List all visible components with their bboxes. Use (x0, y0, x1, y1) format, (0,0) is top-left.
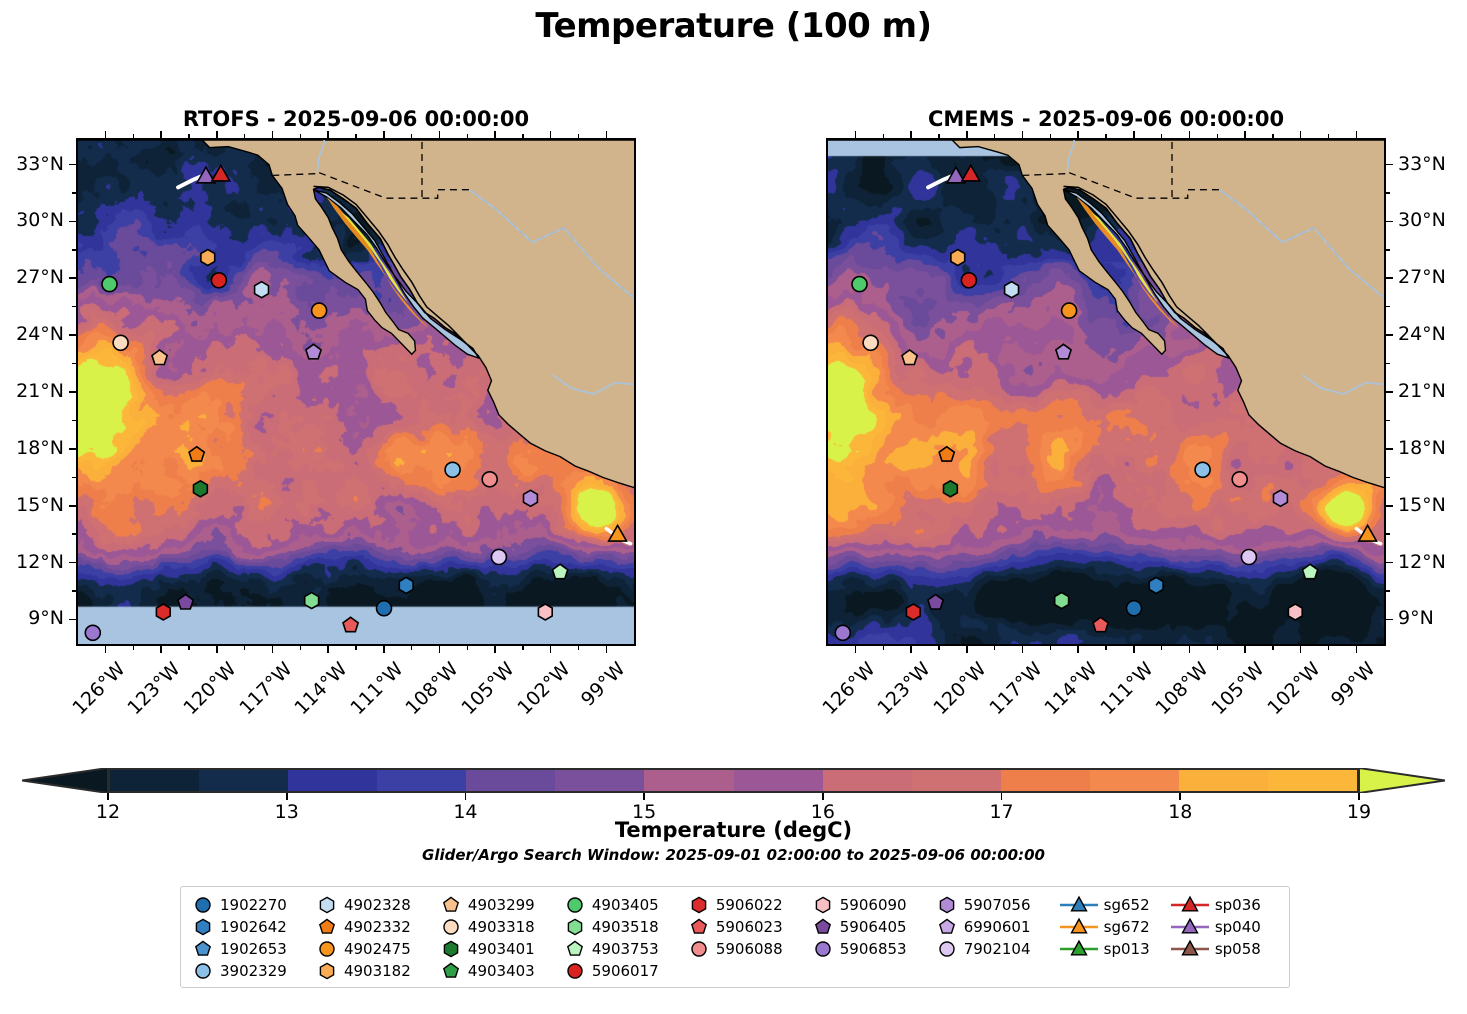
lat-tick-label: 21°N (1398, 382, 1446, 401)
legend-item-label: 5906022 (712, 896, 783, 914)
lon-tick-top-minor (578, 134, 579, 138)
lon-tick-minor (188, 646, 189, 650)
marker-4903753[interactable] (553, 564, 568, 579)
legend-item-sp058[interactable]: sp058 (1169, 938, 1280, 960)
legend: 1902270190264219026533902329490232849023… (180, 886, 1290, 988)
legend-item-label: 1902270 (216, 896, 287, 914)
lon-tick-top (966, 131, 968, 138)
lat-tick (69, 505, 76, 507)
lon-tick-top-minor (1328, 134, 1329, 138)
legend-marker-icon (562, 917, 588, 937)
legend-marker-icon (314, 961, 340, 981)
lat-tick-minor (72, 533, 76, 534)
marker-3902329[interactable] (1195, 462, 1210, 477)
lon-tick-top (1077, 131, 1079, 138)
marker-1902270[interactable] (1127, 601, 1142, 616)
lon-tick-top-minor (300, 134, 301, 138)
legend-item-label: 5906405 (836, 918, 907, 936)
legend-marker-icon (314, 917, 340, 937)
map-frame-cmems[interactable] (826, 138, 1386, 646)
lon-tick-minor (411, 646, 412, 650)
lat-tick-minor (72, 306, 76, 307)
marker-5906088[interactable] (1232, 472, 1247, 487)
map-frame-rtofs[interactable] (76, 138, 636, 646)
colorbar-tick (1358, 793, 1360, 800)
lon-tick-top (439, 131, 441, 138)
lon-tick-top-minor (244, 134, 245, 138)
lon-tick (272, 646, 274, 653)
legend-item-5906017[interactable]: 5906017 (562, 960, 686, 982)
lon-tick-top (494, 131, 496, 138)
lon-tick-minor (355, 646, 356, 650)
colorbar-segment (644, 770, 733, 791)
lon-tick (439, 646, 441, 653)
lon-tick-top (383, 131, 385, 138)
legend-item-label: 1902653 (216, 940, 287, 958)
legend-item-1902270[interactable]: 1902270 (190, 894, 314, 916)
lon-tick-top (855, 131, 857, 138)
marker-4903405[interactable] (102, 277, 117, 292)
lon-tick-minor (1272, 646, 1273, 650)
lat-tick-minor (1386, 420, 1390, 421)
lon-tick-top (160, 131, 162, 138)
legend-item-label: sp040 (1211, 918, 1261, 936)
legend-item-sp036[interactable]: sp036 (1169, 894, 1280, 916)
marker-5906088[interactable] (482, 472, 497, 487)
legend-column: 590609059064055906853 (810, 894, 934, 960)
lat-tick-label: 30°N (16, 211, 64, 230)
lat-tick (69, 619, 76, 621)
marker-5906022[interactable] (906, 604, 920, 620)
colorbar-extend-min (22, 768, 108, 793)
colorbar-segment (1179, 770, 1268, 791)
lat-tick-label: 12°N (1398, 553, 1446, 572)
marker-4903405[interactable] (852, 277, 867, 292)
lat-tick (1386, 505, 1393, 507)
lon-tick (910, 646, 912, 653)
legend-item-5906405[interactable]: 5906405 (810, 916, 934, 938)
legend-item-label: 5907056 (960, 896, 1031, 914)
lat-tick-minor (72, 590, 76, 591)
colorbar-label: Temperature (degC) (0, 818, 1467, 842)
panel-title-rtofs: RTOFS - 2025-09-06 00:00:00 (76, 107, 636, 131)
legend-marker-icon (686, 939, 712, 959)
legend-item-5906090[interactable]: 5906090 (810, 894, 934, 916)
marker-4903401[interactable] (944, 481, 958, 497)
legend-marker-icon (1058, 917, 1100, 937)
legend-item-label: 5906088 (712, 940, 783, 958)
colorbar-segment (1268, 770, 1357, 791)
lon-tick-top (105, 131, 107, 138)
marker-1902642[interactable] (1149, 577, 1163, 593)
legend-item-4903518[interactable]: 4903518 (562, 916, 686, 938)
legend-marker-icon (438, 939, 464, 959)
lon-tick-top (327, 131, 329, 138)
lon-tick-minor (578, 646, 579, 650)
lon-tick-top (1300, 131, 1302, 138)
legend-column: sp036sp040sp058 (1169, 894, 1280, 960)
lat-tick-minor (72, 192, 76, 193)
lon-tick-top-minor (355, 134, 356, 138)
lon-tick-top-minor (467, 134, 468, 138)
lat-tick (69, 334, 76, 336)
legend-item-5907056[interactable]: 5907056 (934, 894, 1058, 916)
lon-tick-top (550, 131, 552, 138)
marker-4902332[interactable] (939, 447, 954, 461)
marker-4903318[interactable] (863, 335, 878, 350)
legend-item-4903182[interactable]: 4903182 (314, 960, 438, 982)
legend-item-5906022[interactable]: 5906022 (686, 894, 810, 916)
lat-tick-label: 33°N (16, 155, 64, 174)
marker-4902332[interactable] (189, 447, 204, 461)
legend-column: 4903405490351849037535906017 (562, 894, 686, 982)
lat-tick (69, 277, 76, 279)
colorbar-segment (199, 770, 288, 791)
legend-item-label: 4903753 (588, 940, 659, 958)
marker-4902328[interactable] (255, 282, 269, 298)
lat-tick-label: 12°N (16, 553, 64, 572)
marker-3902329[interactable] (445, 462, 460, 477)
legend-marker-icon (190, 961, 216, 981)
colorbar-segment (734, 770, 823, 791)
legend-marker-icon (934, 895, 960, 915)
legend-item-label: 4903403 (464, 962, 535, 980)
lat-tick-label: 18°N (16, 439, 64, 458)
legend-item-label: 4903318 (464, 918, 535, 936)
legend-item-label: 5906090 (836, 896, 907, 914)
marker-4903753[interactable] (1303, 564, 1318, 579)
marker-sp036[interactable] (212, 165, 230, 181)
legend-item-4903401[interactable]: 4903401 (438, 938, 562, 960)
lon-tick-minor (1328, 646, 1329, 650)
marker-4903182[interactable] (201, 250, 215, 266)
lat-tick (1386, 334, 1393, 336)
marker-4903182[interactable] (951, 250, 965, 266)
lat-tick-minor (1386, 477, 1390, 478)
legend-item-4903753[interactable]: 4903753 (562, 938, 686, 960)
lon-tick (966, 646, 968, 653)
legend-item-5906023[interactable]: 5906023 (686, 916, 810, 938)
lon-tick (494, 646, 496, 653)
colorbar-segment (288, 770, 377, 791)
marker-5906853[interactable] (85, 625, 100, 640)
lat-tick-label: 33°N (1398, 155, 1446, 174)
legend-item-label: 4903405 (588, 896, 659, 914)
marker-1902642[interactable] (399, 577, 413, 593)
legend-marker-icon (1169, 895, 1211, 915)
marker-4902475[interactable] (1062, 303, 1077, 318)
lat-tick-minor (1386, 249, 1390, 250)
legend-item-label: 4903518 (588, 918, 659, 936)
lon-tick (1244, 646, 1246, 653)
lat-tick-label: 15°N (1398, 496, 1446, 515)
colorbar-segment (823, 770, 912, 791)
marker-1902270[interactable] (377, 601, 392, 616)
legend-item-sp013[interactable]: sp013 (1058, 938, 1169, 960)
lon-tick (1022, 646, 1024, 653)
lon-tick-top-minor (938, 134, 939, 138)
lon-tick (1189, 646, 1191, 653)
legend-column: sg652sg672sp013 (1058, 894, 1169, 960)
lat-tick (1386, 164, 1393, 166)
marker-4902328[interactable] (1005, 282, 1019, 298)
lon-tick-minor (883, 646, 884, 650)
lon-tick-top-minor (1217, 134, 1218, 138)
lon-tick-minor (467, 646, 468, 650)
legend-item-label: sp036 (1211, 896, 1261, 914)
colorbar-tick (465, 793, 467, 800)
colorbar-segment (466, 770, 555, 791)
lat-tick (1386, 448, 1393, 450)
marker-4903518[interactable] (1055, 593, 1069, 609)
lat-tick (69, 164, 76, 166)
map-panel-cmems: CMEMS - 2025-09-06 00:00:00 33°N30°N27°N… (826, 138, 1386, 646)
lon-tick-minor (133, 646, 134, 650)
marker-5906023[interactable] (343, 617, 358, 631)
legend-marker-icon (190, 895, 216, 915)
legend-item-label: 4903401 (464, 940, 535, 958)
lat-tick (1386, 562, 1393, 564)
lon-tick (105, 646, 107, 653)
legend-item-label: 4902328 (340, 896, 411, 914)
lon-tick (1133, 646, 1135, 653)
lat-tick-label: 24°N (16, 325, 64, 344)
lon-tick-top (272, 131, 274, 138)
lon-tick-minor (1217, 646, 1218, 650)
legend-item-4902332[interactable]: 4902332 (314, 916, 438, 938)
colorbar-tick (286, 793, 288, 800)
lon-tick-minor (1050, 646, 1051, 650)
legend-item-sg672[interactable]: sg672 (1058, 916, 1169, 938)
lat-tick (69, 221, 76, 223)
lon-tick (606, 646, 608, 653)
lat-tick-label: 21°N (16, 382, 64, 401)
lon-tick-minor (244, 646, 245, 650)
legend-marker-icon (438, 895, 464, 915)
lon-tick-minor (994, 646, 995, 650)
legend-column: 590602259060235906088 (686, 894, 810, 960)
lat-tick-label: 24°N (1398, 325, 1446, 344)
lon-tick-minor (1161, 646, 1162, 650)
marker-7902104[interactable] (491, 550, 506, 565)
legend-marker-icon (1169, 939, 1211, 959)
lon-tick-top-minor (1161, 134, 1162, 138)
lon-tick-top (1189, 131, 1191, 138)
marker-4903299[interactable] (152, 350, 167, 365)
lon-tick-top-minor (1050, 134, 1051, 138)
marker-7902104[interactable] (1241, 550, 1256, 565)
marker-5907056b[interactable] (1274, 490, 1288, 506)
legend-item-label: 5906017 (588, 962, 659, 980)
platform-markers[interactable] (78, 140, 636, 646)
legend-item-label: 5906023 (712, 918, 783, 936)
lon-tick-top (216, 131, 218, 138)
marker-5906022[interactable] (156, 604, 170, 620)
lon-tick (383, 646, 385, 653)
legend-item-sg652[interactable]: sg652 (1058, 894, 1169, 916)
marker-5907056b[interactable] (524, 490, 538, 506)
legend-marker-icon (190, 917, 216, 937)
lat-tick-minor (72, 420, 76, 421)
legend-item-4902475[interactable]: 4902475 (314, 938, 438, 960)
legend-item-5906088[interactable]: 5906088 (686, 938, 810, 960)
lat-tick-minor (1386, 363, 1390, 364)
colorbar-segment (912, 770, 1001, 791)
lat-tick-label: 15°N (16, 496, 64, 515)
lon-tick-top (910, 131, 912, 138)
marker-5906405[interactable] (928, 595, 943, 610)
lat-tick-minor (1386, 306, 1390, 307)
legend-item-label: 4902332 (340, 918, 411, 936)
legend-item-4903403[interactable]: 4903403 (438, 960, 562, 982)
lat-tick-label: 18°N (1398, 439, 1446, 458)
lat-tick (69, 562, 76, 564)
lat-tick (69, 391, 76, 393)
legend-item-label: sp013 (1100, 940, 1150, 958)
legend-item-label: 4903299 (464, 896, 535, 914)
legend-marker-icon (314, 895, 340, 915)
lat-tick-label: 30°N (1398, 211, 1446, 230)
legend-item-4903318[interactable]: 4903318 (438, 916, 562, 938)
lat-tick (69, 448, 76, 450)
lat-tick (1386, 619, 1393, 621)
marker-5906405[interactable] (178, 595, 193, 610)
legend-item-label: 4903182 (340, 962, 411, 980)
legend-item-label: 6990601 (960, 918, 1031, 936)
legend-marker-icon (1058, 939, 1100, 959)
legend-item-label: sp058 (1211, 940, 1261, 958)
legend-item-label: 7902104 (960, 940, 1031, 958)
lon-tick (1300, 646, 1302, 653)
marker-5906853[interactable] (835, 625, 850, 640)
lat-tick-label: 27°N (1398, 268, 1446, 287)
marker-4902475[interactable] (312, 303, 327, 318)
legend-marker-icon (562, 939, 588, 959)
legend-item-1902642[interactable]: 1902642 (190, 916, 314, 938)
platform-markers[interactable] (828, 140, 1386, 646)
legend-item-6990601[interactable]: 6990601 (934, 916, 1058, 938)
legend-item-4902328[interactable]: 4902328 (314, 894, 438, 916)
marker-5906090[interactable] (1288, 604, 1302, 620)
colorbar-extend-max (1359, 768, 1445, 793)
legend-marker-icon (190, 939, 216, 959)
colorbar-segment (1090, 770, 1179, 791)
colorbar-tick (643, 793, 645, 800)
colorbar-tick (1001, 793, 1003, 800)
lon-tick-top-minor (1272, 134, 1273, 138)
lon-tick (855, 646, 857, 653)
colorbar: 1213141516171819 (22, 760, 1445, 800)
legend-item-4903299[interactable]: 4903299 (438, 894, 562, 916)
legend-item-label: sg652 (1100, 896, 1150, 914)
colorbar-tick (822, 793, 824, 800)
lat-tick (1386, 391, 1393, 393)
legend-item-5906853[interactable]: 5906853 (810, 938, 934, 960)
legend-item-7902104[interactable]: 7902104 (934, 938, 1058, 960)
search-window-note: Glider/Argo Search Window: 2025-09-01 02… (0, 846, 1467, 864)
lon-tick-top (606, 131, 608, 138)
lon-tick-top-minor (994, 134, 995, 138)
legend-marker-icon (314, 939, 340, 959)
legend-item-sp040[interactable]: sp040 (1169, 916, 1280, 938)
colorbar-segment (555, 770, 644, 791)
lon-tick-minor (938, 646, 939, 650)
legend-marker-icon (686, 895, 712, 915)
legend-item-label: sg672 (1100, 918, 1150, 936)
lon-tick (1077, 646, 1079, 653)
legend-marker-icon (562, 895, 588, 915)
legend-item-3902329[interactable]: 3902329 (190, 960, 314, 982)
lon-tick-top-minor (133, 134, 134, 138)
lat-tick-minor (72, 249, 76, 250)
colorbar-gradient (108, 768, 1359, 793)
legend-marker-icon (934, 939, 960, 959)
legend-marker-icon (438, 961, 464, 981)
lon-tick-top-minor (188, 134, 189, 138)
legend-marker-icon (810, 895, 836, 915)
legend-column: 1902270190264219026533902329 (190, 894, 314, 982)
lon-tick-top-minor (522, 134, 523, 138)
map-panel-rtofs: RTOFS - 2025-09-06 00:00:00 33°N30°N27°N… (76, 138, 636, 646)
legend-marker-icon (686, 917, 712, 937)
lon-tick-top (1356, 131, 1358, 138)
marker-5906090[interactable] (538, 604, 552, 620)
lon-tick-top (1022, 131, 1024, 138)
colorbar-segment (110, 770, 199, 791)
marker-sp036[interactable] (962, 165, 980, 181)
lon-tick-minor (1105, 646, 1106, 650)
marker-4903518[interactable] (305, 593, 319, 609)
lat-tick-minor (72, 477, 76, 478)
colorbar-segment (377, 770, 466, 791)
legend-item-4903405[interactable]: 4903405 (562, 894, 686, 916)
lat-tick-minor (1386, 590, 1390, 591)
legend-marker-icon (810, 939, 836, 959)
marker-5906017[interactable] (211, 273, 226, 288)
legend-item-1902653[interactable]: 1902653 (190, 938, 314, 960)
lon-tick-minor (300, 646, 301, 650)
legend-marker-icon (1058, 895, 1100, 915)
marker-5907056[interactable] (1056, 344, 1071, 359)
colorbar-segment (1001, 770, 1090, 791)
marker-5906023[interactable] (1093, 617, 1108, 631)
marker-5907056[interactable] (306, 344, 321, 359)
legend-column: 4902328490233249024754903182 (314, 894, 438, 982)
lon-tick (216, 646, 218, 653)
marker-4903318[interactable] (113, 335, 128, 350)
lat-tick-label: 9°N (28, 609, 64, 628)
marker-4903401[interactable] (194, 481, 208, 497)
legend-item-label: 1902642 (216, 918, 287, 936)
lon-tick-minor (522, 646, 523, 650)
lat-tick-minor (72, 363, 76, 364)
lon-tick (550, 646, 552, 653)
legend-marker-icon (562, 961, 588, 981)
marker-4903299[interactable] (902, 350, 917, 365)
legend-item-label: 5906853 (836, 940, 907, 958)
legend-marker-icon (438, 917, 464, 937)
colorbar-tick (107, 793, 109, 800)
legend-item-label: 4902475 (340, 940, 411, 958)
lat-tick-label: 27°N (16, 268, 64, 287)
lon-tick (1356, 646, 1358, 653)
legend-marker-icon (810, 917, 836, 937)
lon-tick-top (1244, 131, 1246, 138)
lon-tick-top (1133, 131, 1135, 138)
marker-5906017[interactable] (961, 273, 976, 288)
lat-tick-label: 9°N (1398, 609, 1434, 628)
lon-tick-top-minor (411, 134, 412, 138)
